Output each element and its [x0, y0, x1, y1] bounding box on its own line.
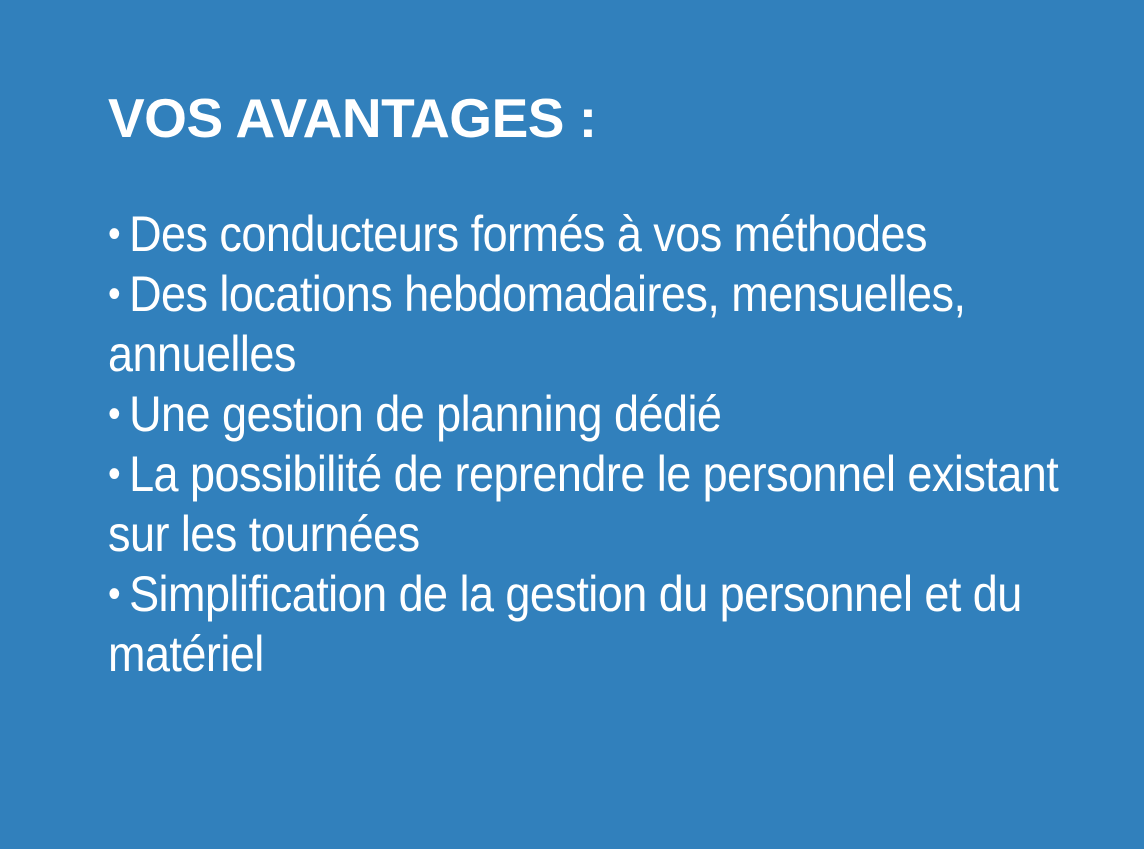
page-title: VOS AVANTAGES : — [108, 88, 1084, 148]
bullet-icon: • — [108, 454, 120, 494]
list-item-label: Des locations hebdomadaires, mensuelles,… — [108, 266, 965, 382]
list-item-label: Une gestion de planning dédié — [129, 386, 721, 442]
advantages-slide: VOS AVANTAGES : •Des conducteurs formés … — [0, 0, 1144, 849]
bullet-icon: • — [108, 394, 120, 434]
bullet-icon: • — [108, 214, 120, 254]
list-item-label: La possibilité de reprendre le personnel… — [108, 446, 1058, 562]
list-item: •Des locations hebdomadaires, mensuelles… — [108, 264, 1085, 384]
list-item-label: Simplification de la gestion du personne… — [108, 566, 1022, 682]
list-item: •Une gestion de planning dédié — [108, 384, 1085, 444]
list-item: •Des conducteurs formés à vos méthodes — [108, 204, 1085, 264]
bullet-icon: • — [108, 574, 120, 614]
list-item-label: Des conducteurs formés à vos méthodes — [129, 206, 927, 262]
slide-content: VOS AVANTAGES : •Des conducteurs formés … — [108, 88, 1084, 684]
bullet-icon: • — [108, 274, 120, 314]
list-item: •La possibilité de reprendre le personne… — [108, 444, 1085, 564]
advantages-list: •Des conducteurs formés à vos méthodes •… — [108, 204, 1084, 684]
list-item: •Simplification de la gestion du personn… — [108, 564, 1085, 684]
